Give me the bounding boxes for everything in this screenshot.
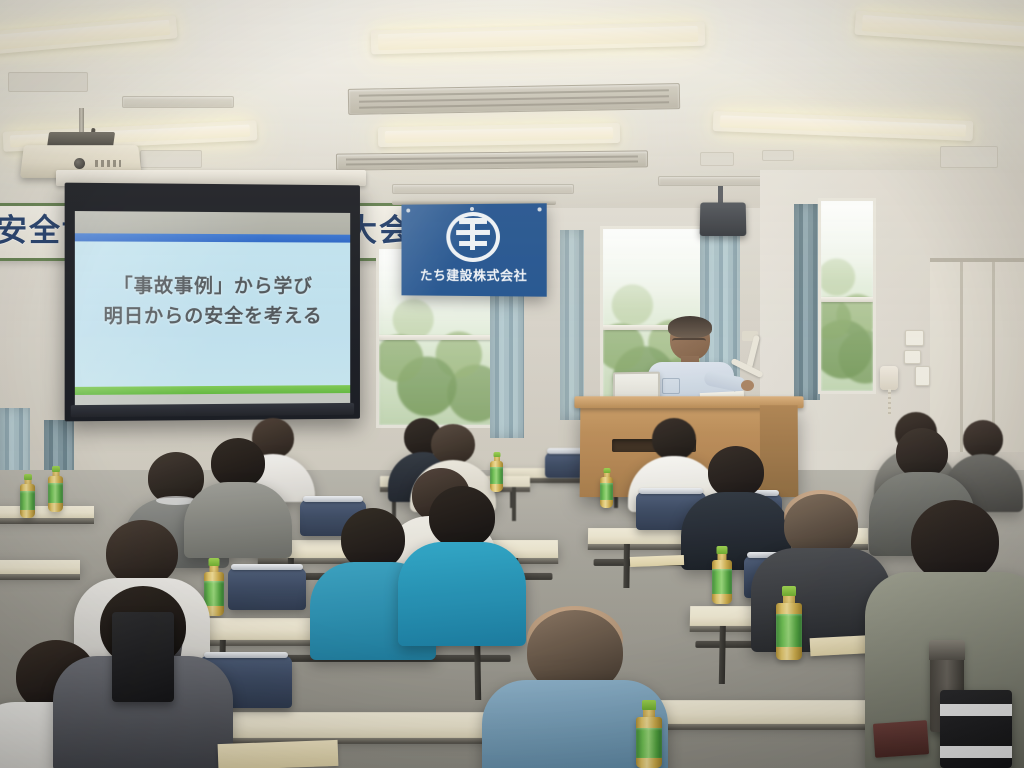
attendee-chair — [228, 568, 306, 610]
attendee — [496, 604, 654, 768]
conference-room-photo: 安全協 大会 「事故事例」から学び — [0, 0, 1024, 768]
green-tea-bottle — [776, 586, 802, 660]
window — [818, 198, 876, 394]
slide-title-line1: 「事故事例」から学び — [75, 272, 350, 302]
wall-phone[interactable] — [880, 366, 898, 390]
speaker-mount-rod — [718, 186, 723, 204]
attendee — [192, 438, 284, 556]
shoulder-bag — [940, 690, 1012, 768]
ceiling-access-panel — [700, 152, 734, 166]
green-tea-bottle — [636, 700, 662, 768]
company-logo-icon — [443, 212, 503, 264]
ceiling-access-panel — [762, 150, 794, 161]
company-banner: たち建設株式会社 — [401, 203, 546, 296]
shoulder-bag — [112, 612, 174, 702]
ceiling-access-panel — [940, 146, 998, 168]
green-tea-bottle — [48, 466, 63, 512]
presenter-hair — [668, 316, 712, 338]
glasses-icon — [672, 338, 706, 347]
green-tea-bottle — [600, 468, 613, 508]
light-switch[interactable] — [904, 350, 921, 364]
window-curtain — [794, 204, 820, 400]
wallet — [873, 720, 929, 758]
air-vent — [122, 96, 234, 108]
air-vent — [392, 184, 574, 194]
document-folder — [218, 740, 339, 768]
window-curtain — [560, 230, 584, 420]
green-tea-bottle — [712, 546, 732, 604]
screen-weight-bar — [71, 403, 354, 417]
ceiling-light — [378, 26, 698, 50]
ceiling-speaker — [700, 203, 747, 236]
projector-lens — [74, 158, 85, 169]
document-folder — [630, 555, 684, 567]
light-switch[interactable] — [905, 330, 924, 346]
light-switch[interactable] — [915, 366, 930, 386]
ceiling-light — [385, 127, 613, 143]
ceiling-access-panel — [8, 72, 88, 92]
company-name-text: たち建設株式会社 — [401, 265, 546, 285]
ceiling-access-panel — [140, 150, 202, 168]
air-vent — [336, 150, 648, 170]
attendee-desk — [0, 560, 80, 574]
projection-screen: 「事故事例」から学び 明日からの安全を考える — [65, 183, 360, 422]
green-tea-bottle — [20, 474, 35, 518]
projection-screen-surface: 「事故事例」から学び 明日からの安全を考える — [75, 211, 350, 405]
slide-title-line2: 明日からの安全を考える — [75, 302, 350, 332]
attendee-desk — [0, 506, 94, 518]
